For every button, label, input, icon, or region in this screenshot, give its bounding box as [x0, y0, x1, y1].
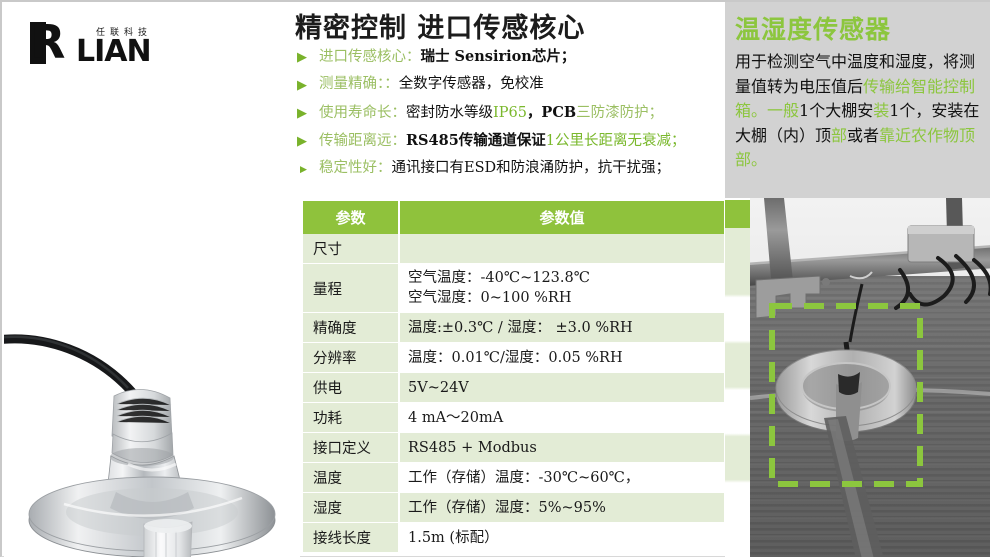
bullet-value-green: IP65 [493, 105, 527, 121]
bullet-value: RS485传输通道保证 [406, 132, 546, 149]
table-row: 精确度 温度:±0.3℃ / 湿度： ±3.0 %RH [303, 313, 724, 343]
bullet-value: 密封防水等级 [406, 105, 493, 121]
body-seg: 用于检测空气中温度和湿度， [735, 52, 943, 71]
bullet-label: 测量精确：： [319, 76, 399, 92]
bullet-text: 稳定性好：通讯接口有ESD和防浪涌防护，抗干扰强； [319, 158, 670, 179]
body-seg: 或者 [847, 126, 879, 145]
play-triangle-icon: ▶ [297, 158, 319, 179]
row-value: 4 mA～20mA [399, 403, 724, 433]
row-key: 温度 [303, 463, 399, 493]
table-header-parameter: 参数 [303, 201, 399, 234]
table-row: 供电 5V~24V [303, 373, 724, 403]
table-row: 尺寸 [303, 234, 724, 264]
bullet-text: 传输距离远：RS485传输通道保证1公里长距离无衰减； [319, 130, 686, 152]
play-triangle-icon: ▶ [297, 130, 319, 151]
poster-page: R 任联科技 LIAN 精密控制 进口传感核心 ▶ 进口传感核心：瑞士 Sens… [0, 0, 990, 557]
row-value: 温度:±0.3℃ / 湿度： ±3.0 %RH [399, 313, 724, 343]
row-key: 接线长度 [303, 523, 399, 553]
row-value: 工作（存储）温度：-30℃~60℃， [399, 463, 724, 493]
table-header-row: 参数 参数值 [303, 201, 724, 234]
panel-title: 温湿度传感器 [735, 10, 891, 46]
bullet-value-green-2: 三防漆防护； [576, 105, 663, 121]
row-value: 1.5m (标配） [399, 523, 724, 553]
body-seg: 1 [799, 101, 809, 120]
product-photo [4, 152, 300, 557]
row-key: 功耗 [303, 403, 399, 433]
bullet-value: 全数字传感器，免校准 [399, 76, 544, 92]
table-row: 温度 工作（存储）温度：-30℃~60℃， [303, 463, 724, 493]
bullet-value: 通讯接口有ESD和防浪涌防护，抗干扰强； [392, 160, 671, 176]
row-key: 接口定义 [303, 433, 399, 463]
table-row: 分辨率 温度：0.01℃/湿度：0.05 %RH [303, 343, 724, 373]
row-key: 量程 [303, 264, 399, 313]
table-row: 湿度 工作（存储）湿度：5%~95% [303, 493, 724, 523]
feature-bullet-list: ▶ 进口传感核心：瑞士 Sensirion芯片； ▶ 测量精确：：全数字传感器，… [297, 46, 727, 186]
row-value: 工作（存储）湿度：5%~95% [399, 493, 724, 523]
play-triangle-icon: ▶ [297, 102, 319, 123]
bullet-text: 进口传感核心：瑞士 Sensirion芯片； [319, 46, 575, 68]
logo-letter: R [30, 20, 63, 64]
product-photo-illustration [4, 152, 300, 557]
list-item: ▶ 传输距离远：RS485传输通道保证1公里长距离无衰减； [297, 130, 727, 153]
list-item: ▶ 测量精确：：全数字传感器，免校准 [297, 74, 727, 97]
body-seg: 1个， [889, 101, 931, 120]
play-triangle-icon: ▶ [297, 46, 319, 67]
bullet-label: 进口传感核心： [319, 49, 421, 65]
table-row: 功耗 4 mA～20mA [303, 403, 724, 433]
brand-logo: R 任联科技 LIAN [30, 20, 260, 68]
table-row: 接口定义 RS485 + Modbus [303, 433, 724, 463]
body-seg: 个大棚安 [809, 101, 873, 120]
table-row: 接线长度 1.5m (标配） [303, 523, 724, 553]
installation-photo [750, 198, 990, 557]
specifications-table: 参数 参数值 尺寸 量程 空气温度：-40℃~123.8℃ 空气湿度：0~100… [303, 201, 724, 553]
table-header-value: 参数值 [399, 201, 724, 234]
list-item: ▶ 使用寿命长：密封防水等级IP65，PCB三防漆防护； [297, 102, 727, 125]
bullet-value-2: ，PCB [527, 104, 576, 121]
row-value: 5V~24V [399, 373, 724, 403]
bullet-label: 传输距离远： [319, 133, 406, 149]
bullet-value-green: 1公里长距离无衰减； [546, 133, 686, 149]
body-seg: 传输给 [863, 77, 911, 96]
row-value-line2: 空气湿度：0~100 %RH [408, 288, 724, 308]
description-panel: 温湿度传感器 用于检测空气中温度和湿度，将测量值转为电压值后传输给智能控制箱。一… [725, 2, 990, 198]
row-key: 精确度 [303, 313, 399, 343]
bullet-label: 使用寿命长： [319, 105, 406, 121]
green-accent-strip [725, 228, 751, 557]
row-value: 温度：0.01℃/湿度：0.05 %RH [399, 343, 724, 373]
row-key: 供电 [303, 373, 399, 403]
list-item: ▶ 进口传感核心：瑞士 Sensirion芯片； [297, 46, 727, 69]
bullet-text: 使用寿命长：密封防水等级IP65，PCB三防漆防护； [319, 102, 663, 124]
installation-photo-illustration [750, 198, 990, 557]
row-key: 尺寸 [303, 234, 399, 264]
body-seg: 装 [873, 101, 889, 120]
panel-body: 用于检测空气中温度和湿度，将测量值转为电压值后传输给智能控制箱。一般1个大棚安装… [735, 50, 985, 173]
bullet-label: 稳定性好： [319, 160, 392, 176]
bullet-text: 测量精确：：全数字传感器，免校准 [319, 74, 544, 95]
row-value [399, 234, 724, 264]
bullet-value: 瑞士 Sensirion芯片； [421, 48, 576, 65]
list-item: ▶ 稳定性好：通讯接口有ESD和防浪涌防护，抗干扰强； [297, 158, 727, 181]
green-accent-block [725, 200, 751, 228]
page-title: 精密控制 进口传感核心 [295, 6, 585, 45]
table-row: 量程 空气温度：-40℃~123.8℃ 空气湿度：0~100 %RH [303, 264, 724, 313]
row-key: 湿度 [303, 493, 399, 523]
row-value: RS485 + Modbus [399, 433, 724, 463]
row-value-line1: 空气温度：-40℃~123.8℃ [408, 270, 590, 286]
logo-wordmark: LIAN [76, 37, 151, 67]
body-seg: 部 [831, 126, 847, 145]
row-key: 分辨率 [303, 343, 399, 373]
row-value: 空气温度：-40℃~123.8℃ 空气湿度：0~100 %RH [399, 264, 724, 313]
play-triangle-icon: ▶ [297, 74, 319, 95]
